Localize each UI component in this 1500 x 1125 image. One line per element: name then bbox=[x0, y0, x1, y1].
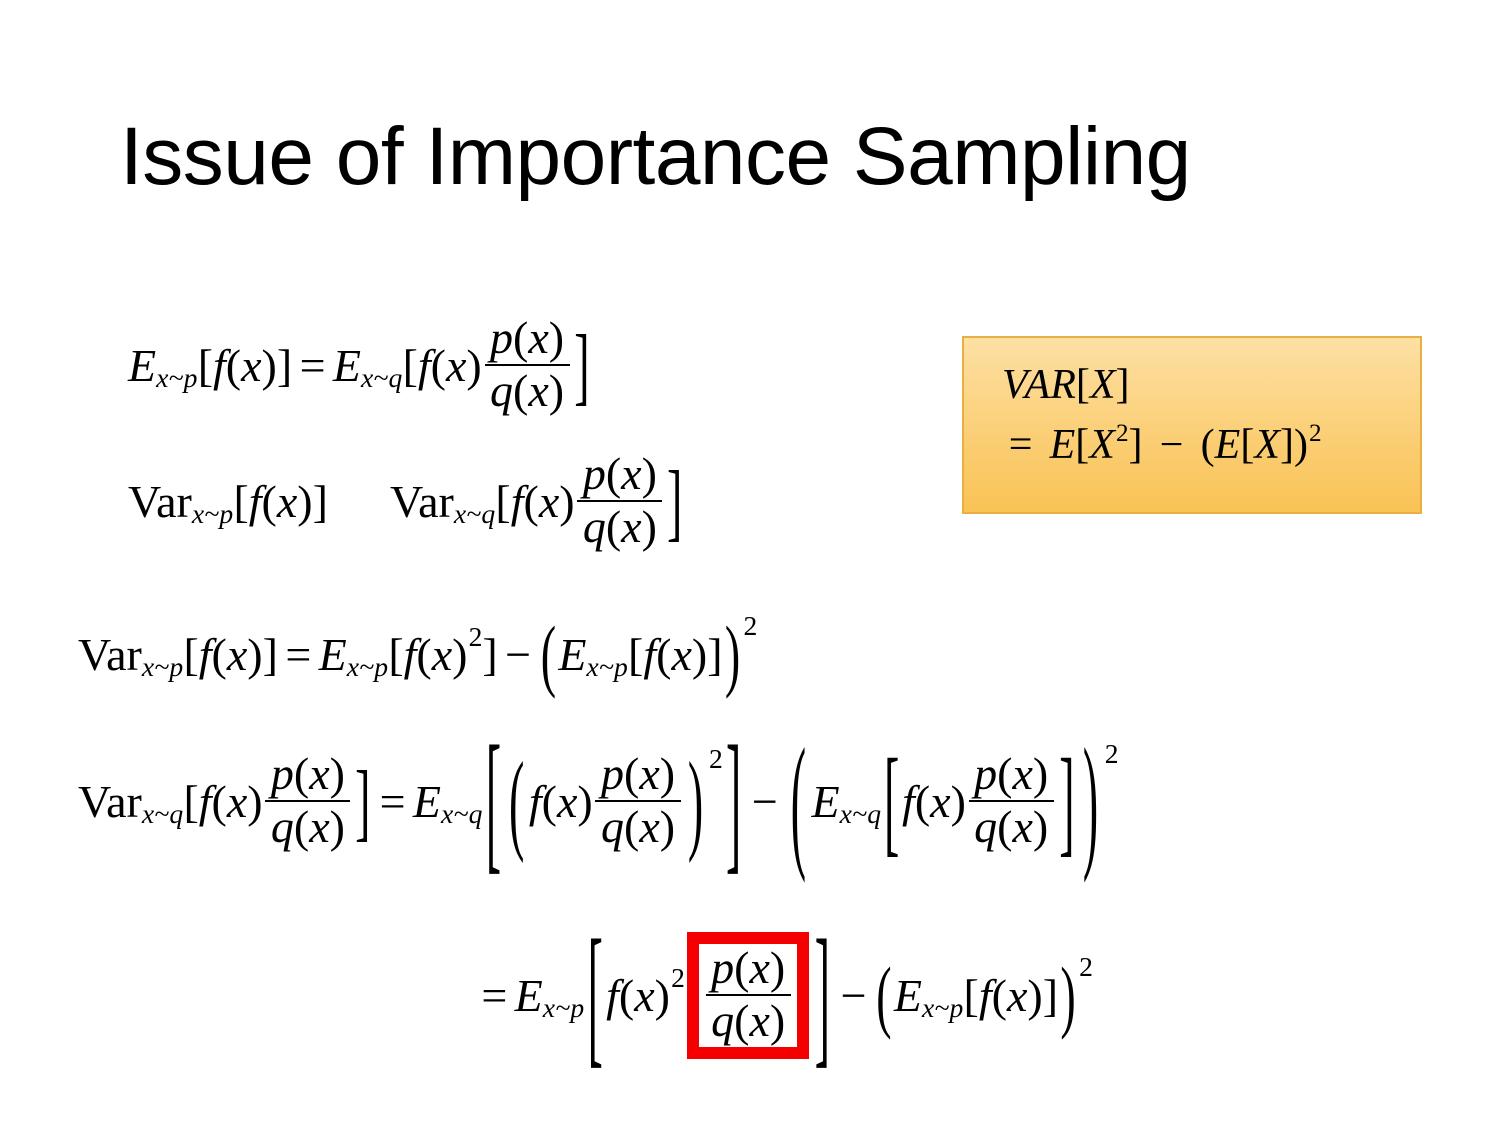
fraction-numerator: p(x) bbox=[485, 315, 570, 366]
symbol-x: x bbox=[621, 501, 641, 552]
operator-equals: = bbox=[1002, 422, 1039, 468]
fraction-numerator: p(x) bbox=[265, 751, 350, 802]
symbol-E: E bbox=[333, 343, 361, 389]
bracket-close: ] bbox=[1116, 362, 1130, 408]
symbol-q: q bbox=[974, 801, 997, 852]
equation-var-q-expanded: Varx~q [ f(x) p(x) q(x) ] = Ex~q [ ( f(x… bbox=[78, 752, 1119, 851]
fraction-numerator: p(x) bbox=[595, 751, 680, 802]
symbol-X: X bbox=[1090, 362, 1116, 408]
bracket-close: ] bbox=[723, 724, 745, 880]
subscript-x-sim-p: x~p bbox=[586, 653, 628, 681]
paren-close: ) bbox=[549, 365, 564, 416]
paren-close: ) bbox=[466, 343, 481, 389]
highlight-importance-weight: p(x) q(x) bbox=[687, 932, 810, 1059]
paren-open: ( bbox=[513, 312, 528, 363]
fraction-numerator: p(x) bbox=[577, 451, 662, 502]
subscript-x-sim-p: x~p bbox=[142, 653, 184, 681]
symbol-x: x bbox=[432, 632, 452, 678]
symbol-f: f bbox=[979, 973, 992, 1019]
paren-close: ) bbox=[577, 779, 592, 825]
subscript-x-sim-q: x~q bbox=[142, 800, 184, 828]
exponent-2: 2 bbox=[1308, 420, 1322, 447]
paren-close: ) bbox=[951, 779, 966, 825]
symbol-Var: Var bbox=[78, 779, 142, 825]
symbol-x: x bbox=[671, 632, 691, 678]
paren-close: ) bbox=[1077, 727, 1103, 877]
symbol-x: x bbox=[528, 365, 548, 416]
symbol-E: E bbox=[812, 779, 840, 825]
equation-variance-pair: Varx~p [ f(x) ] Varx~q [ f(x) p(x) q(x) … bbox=[128, 452, 684, 551]
paren-open: ( bbox=[624, 748, 639, 799]
symbol-x: x bbox=[621, 448, 641, 499]
symbol-x: x bbox=[446, 343, 466, 389]
bracket-close: ] bbox=[482, 632, 497, 678]
symbol-E: E bbox=[1215, 422, 1241, 468]
symbol-VAR: VAR bbox=[1002, 362, 1076, 408]
fraction-numerator: p(x) bbox=[706, 945, 791, 996]
callout-line-1: VAR[X] bbox=[1002, 364, 1420, 406]
paren-open: ( bbox=[416, 632, 431, 678]
bracket-close: ] bbox=[811, 918, 833, 1074]
bracket-open: [ bbox=[403, 343, 418, 389]
paren-close: ) bbox=[655, 973, 670, 1019]
bracket-open: [ bbox=[198, 343, 213, 389]
symbol-Var: Var bbox=[128, 479, 192, 525]
symbol-f: f bbox=[418, 343, 431, 389]
paren-open: ( bbox=[513, 365, 528, 416]
operator-equals: = bbox=[474, 973, 515, 1019]
paren-open: ( bbox=[294, 748, 309, 799]
bracket-close: ] bbox=[665, 458, 684, 545]
paren-open: ( bbox=[1201, 422, 1215, 468]
symbol-x: x bbox=[241, 343, 261, 389]
symbol-f: f bbox=[902, 779, 915, 825]
paren-open: ( bbox=[734, 942, 749, 993]
paren-close: ) bbox=[297, 479, 312, 525]
symbol-x: x bbox=[277, 479, 297, 525]
paren-close: ) bbox=[1294, 422, 1308, 468]
symbol-x: x bbox=[1013, 801, 1033, 852]
paren-close: ) bbox=[247, 632, 262, 678]
bracket-close: ] bbox=[1129, 422, 1143, 468]
paren-close: ) bbox=[660, 801, 675, 852]
symbol-x: x bbox=[227, 632, 247, 678]
paren-close: ) bbox=[770, 995, 785, 1046]
bracket-close: ] bbox=[572, 322, 591, 409]
symbol-p: p bbox=[490, 312, 513, 363]
paren-close: ) bbox=[683, 745, 708, 858]
bracket-close: ] bbox=[1280, 422, 1294, 468]
operator-minus: − bbox=[498, 632, 539, 678]
subscript-x-sim-p: x~p bbox=[192, 500, 234, 528]
bracket-open: [ bbox=[1240, 422, 1254, 468]
symbol-E: E bbox=[1050, 422, 1076, 468]
paren-open: ( bbox=[262, 479, 277, 525]
paren-open: ( bbox=[431, 343, 446, 389]
paren-open: ( bbox=[874, 955, 894, 1036]
subscript-x-sim-p: x~p bbox=[922, 994, 964, 1022]
symbol-q: q bbox=[490, 365, 513, 416]
paren-open: ( bbox=[542, 779, 557, 825]
symbol-f: f bbox=[213, 343, 226, 389]
symbol-Var: Var bbox=[390, 479, 454, 525]
fraction-denominator: q(x) bbox=[969, 802, 1054, 851]
symbol-x: x bbox=[528, 312, 548, 363]
subscript-x-sim-q: x~q bbox=[361, 364, 403, 392]
paren-open: ( bbox=[606, 448, 621, 499]
symbol-x: x bbox=[1013, 748, 1033, 799]
subscript-x-sim-p: x~p bbox=[543, 994, 585, 1022]
bracket-open: [ bbox=[483, 724, 505, 880]
symbol-q: q bbox=[601, 801, 624, 852]
bracket-open: [ bbox=[233, 479, 248, 525]
symbol-f: f bbox=[529, 779, 542, 825]
paren-close: ) bbox=[770, 942, 785, 993]
symbol-q: q bbox=[271, 801, 294, 852]
paren-close: ) bbox=[1033, 748, 1048, 799]
symbol-x: x bbox=[539, 479, 559, 525]
page-title: Issue of Importance Sampling bbox=[120, 112, 1191, 202]
symbol-f: f bbox=[404, 632, 417, 678]
bracket-open: [ bbox=[183, 779, 198, 825]
paren-close: ) bbox=[660, 748, 675, 799]
bracket-open: [ bbox=[495, 479, 510, 525]
bracket-close: ] bbox=[313, 479, 328, 525]
bracket-open: [ bbox=[584, 918, 606, 1074]
symbol-f: f bbox=[199, 632, 212, 678]
paren-close: ) bbox=[247, 779, 262, 825]
bracket-open: [ bbox=[1076, 362, 1090, 408]
operator-minus: − bbox=[1153, 422, 1190, 468]
symbol-x: x bbox=[639, 801, 659, 852]
fraction-p-over-q: p(x) q(x) bbox=[485, 315, 570, 414]
symbol-x: x bbox=[309, 748, 329, 799]
subscript-x-sim-p: x~p bbox=[347, 653, 389, 681]
paren-open: ( bbox=[656, 632, 671, 678]
paren-open: ( bbox=[992, 973, 1007, 1019]
paren-open: ( bbox=[294, 801, 309, 852]
paren-open: ( bbox=[734, 995, 749, 1046]
paren-open: ( bbox=[915, 779, 930, 825]
symbol-Var: Var bbox=[78, 632, 142, 678]
symbol-E: E bbox=[319, 632, 347, 678]
symbol-E: E bbox=[515, 973, 543, 1019]
symbol-f: f bbox=[606, 973, 619, 1019]
symbol-E: E bbox=[413, 779, 441, 825]
paren-open: ( bbox=[524, 479, 539, 525]
bracket-open: [ bbox=[628, 632, 643, 678]
symbol-X: X bbox=[1089, 422, 1115, 468]
paren-open: ( bbox=[997, 748, 1012, 799]
symbol-E: E bbox=[128, 343, 156, 389]
fraction-p-over-q: p(x) q(x) bbox=[577, 451, 662, 550]
symbol-p: p bbox=[601, 748, 624, 799]
bracket-close: ] bbox=[277, 343, 292, 389]
symbol-E: E bbox=[558, 632, 586, 678]
paren-close: ) bbox=[692, 632, 707, 678]
symbol-x: x bbox=[749, 942, 769, 993]
exponent-2: 2 bbox=[742, 612, 757, 640]
symbol-f: f bbox=[643, 632, 656, 678]
paren-close: ) bbox=[330, 801, 345, 852]
symbol-x: x bbox=[634, 973, 654, 1019]
exponent-2: 2 bbox=[708, 745, 723, 773]
paren-close: ) bbox=[642, 448, 657, 499]
fraction-denominator: q(x) bbox=[485, 366, 570, 415]
fraction-denominator: q(x) bbox=[577, 502, 662, 551]
paren-open: ( bbox=[624, 801, 639, 852]
bracket-open: [ bbox=[388, 632, 403, 678]
callout-line-2: = E[X2] − (E[X])2 bbox=[1002, 424, 1420, 466]
exponent-2: 2 bbox=[1115, 420, 1129, 447]
symbol-x: x bbox=[930, 779, 950, 825]
symbol-p: p bbox=[974, 748, 997, 799]
exponent-2: 2 bbox=[670, 964, 685, 992]
fraction-denominator: q(x) bbox=[265, 802, 350, 851]
fraction-p-over-q: p(x) q(x) bbox=[706, 945, 791, 1044]
bracket-close: ] bbox=[1057, 742, 1078, 862]
symbol-x: x bbox=[227, 779, 247, 825]
symbol-x: x bbox=[639, 748, 659, 799]
symbol-x: x bbox=[1007, 973, 1027, 1019]
fraction-numerator: p(x) bbox=[969, 751, 1054, 802]
subscript-x-sim-q: x~q bbox=[840, 800, 882, 828]
paren-close: ) bbox=[642, 501, 657, 552]
fraction-p-over-q: p(x) q(x) bbox=[595, 751, 680, 850]
paren-close: ) bbox=[262, 343, 277, 389]
equation-var-p-expanded: Varx~p [ f(x) ] = Ex~p [ f(x)2 ] − ( Ex~… bbox=[78, 632, 757, 678]
symbol-E: E bbox=[894, 973, 922, 1019]
paren-close: ) bbox=[559, 479, 574, 525]
paren-open: ( bbox=[504, 745, 529, 858]
symbol-x: x bbox=[309, 801, 329, 852]
paren-open: ( bbox=[606, 501, 621, 552]
paren-close: ) bbox=[549, 312, 564, 363]
symbol-f: f bbox=[249, 479, 262, 525]
paren-close: ) bbox=[1033, 801, 1048, 852]
exponent-2: 2 bbox=[1104, 740, 1119, 768]
subscript-x-sim-q: x~q bbox=[454, 500, 496, 528]
paren-close: ) bbox=[1058, 955, 1078, 1036]
bracket-open: [ bbox=[964, 973, 979, 1019]
paren-open: ( bbox=[226, 343, 241, 389]
subscript-x-sim-q: x~q bbox=[441, 800, 483, 828]
operator-equals: = bbox=[278, 632, 319, 678]
paren-open: ( bbox=[619, 973, 634, 1019]
symbol-x: x bbox=[749, 995, 769, 1046]
paren-close: ) bbox=[452, 632, 467, 678]
fraction-denominator: q(x) bbox=[595, 802, 680, 851]
paren-close: ) bbox=[723, 615, 743, 696]
bracket-close: ] bbox=[263, 632, 278, 678]
symbol-X: X bbox=[1254, 422, 1280, 468]
paren-close: ) bbox=[330, 748, 345, 799]
bracket-open: [ bbox=[1075, 422, 1089, 468]
equation-final-result: = Ex~p [ f(x)2 p(x) q(x) ] − ( Ex~p [ f(… bbox=[474, 932, 1093, 1059]
bracket-close: ] bbox=[353, 758, 372, 845]
bracket-close: ] bbox=[1043, 973, 1058, 1019]
symbol-x: x bbox=[557, 779, 577, 825]
subscript-x-sim-p: x~p bbox=[156, 364, 198, 392]
exponent-2: 2 bbox=[1078, 953, 1093, 981]
paren-close: ) bbox=[1027, 973, 1042, 1019]
operator-minus: − bbox=[833, 973, 874, 1019]
bracket-open: [ bbox=[183, 632, 198, 678]
equation-expectation-identity: Ex~p [ f(x) ] = Ex~q [ f(x) p(x) q(x) ] bbox=[128, 316, 591, 415]
operator-equals: = bbox=[372, 779, 413, 825]
paren-open: ( bbox=[538, 615, 558, 696]
paren-open: ( bbox=[785, 727, 811, 877]
paren-open: ( bbox=[997, 801, 1012, 852]
symbol-p: p bbox=[583, 448, 606, 499]
variance-identity-callout: VAR[X] = E[X2] − (E[X])2 bbox=[962, 336, 1422, 514]
symbol-f: f bbox=[199, 779, 212, 825]
fraction-denominator: q(x) bbox=[706, 996, 791, 1045]
fraction-p-over-q: p(x) q(x) bbox=[969, 751, 1054, 850]
fraction-p-over-q: p(x) q(x) bbox=[265, 751, 350, 850]
symbol-p: p bbox=[711, 942, 734, 993]
symbol-q: q bbox=[583, 501, 606, 552]
symbol-q: q bbox=[711, 995, 734, 1046]
bracket-close: ] bbox=[707, 632, 722, 678]
operator-minus: − bbox=[745, 779, 786, 825]
symbol-f: f bbox=[511, 479, 524, 525]
symbol-p: p bbox=[271, 748, 294, 799]
bracket-open: [ bbox=[881, 742, 902, 862]
paren-open: ( bbox=[212, 779, 227, 825]
exponent-2: 2 bbox=[468, 623, 483, 651]
operator-equals: = bbox=[292, 343, 333, 389]
paren-open: ( bbox=[212, 632, 227, 678]
